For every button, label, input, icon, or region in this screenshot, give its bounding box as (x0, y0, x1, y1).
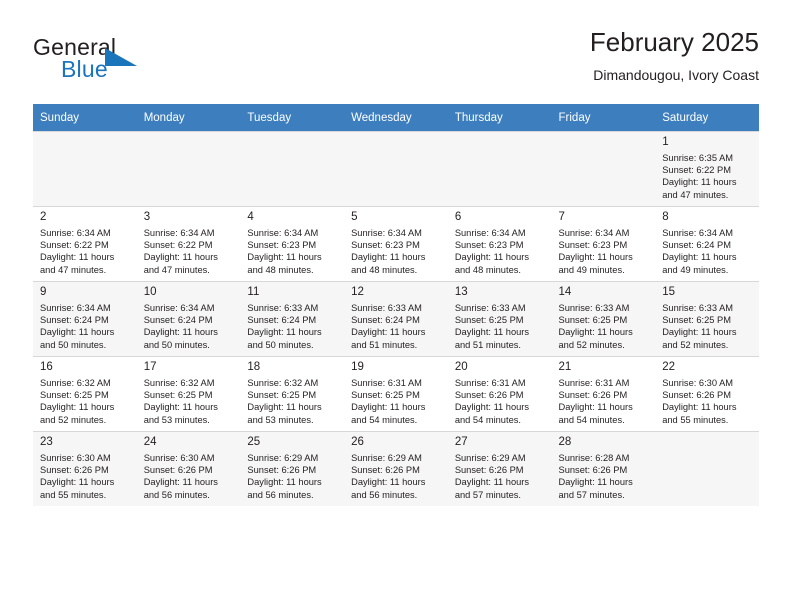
sunrise-text: Sunrise: 6:34 AM (40, 302, 132, 314)
daylight-text-line1: Daylight: 11 hours (662, 326, 754, 338)
calendar-day-cell[interactable]: 25Sunrise: 6:29 AMSunset: 6:26 PMDayligh… (240, 431, 344, 506)
logo-text-blue: Blue (61, 56, 108, 83)
calendar-day-cell[interactable]: 16Sunrise: 6:32 AMSunset: 6:25 PMDayligh… (33, 356, 137, 431)
sunrise-text: Sunrise: 6:31 AM (351, 377, 443, 389)
day-cell-empty (344, 131, 448, 206)
sunrise-text: Sunrise: 6:28 AM (559, 452, 651, 464)
daylight-text-line2: and 55 minutes. (40, 489, 132, 501)
daylight-text-line2: and 56 minutes. (351, 489, 443, 501)
calendar-day-cell[interactable]: 27Sunrise: 6:29 AMSunset: 6:26 PMDayligh… (448, 431, 552, 506)
day-cell-content: 28Sunrise: 6:28 AMSunset: 6:26 PMDayligh… (552, 431, 656, 506)
calendar-day-cell (33, 131, 137, 206)
sunrise-text: Sunrise: 6:29 AM (247, 452, 339, 464)
weekday-header-tuesday: Tuesday (240, 104, 344, 131)
sunset-text: Sunset: 6:26 PM (455, 464, 547, 476)
sunset-text: Sunset: 6:25 PM (40, 389, 132, 401)
day-number: 11 (247, 285, 339, 300)
sunrise-text: Sunrise: 6:33 AM (247, 302, 339, 314)
sunset-text: Sunset: 6:23 PM (455, 239, 547, 251)
day-cell-content: 25Sunrise: 6:29 AMSunset: 6:26 PMDayligh… (240, 431, 344, 506)
day-number: 9 (40, 285, 132, 300)
sunset-text: Sunset: 6:22 PM (144, 239, 236, 251)
day-cell-content: 7Sunrise: 6:34 AMSunset: 6:23 PMDaylight… (552, 206, 656, 281)
sunset-text: Sunset: 6:22 PM (662, 164, 754, 176)
day-number: 28 (559, 435, 651, 450)
weekday-header-thursday: Thursday (448, 104, 552, 131)
sunset-text: Sunset: 6:25 PM (247, 389, 339, 401)
day-cell-content: 14Sunrise: 6:33 AMSunset: 6:25 PMDayligh… (552, 281, 656, 356)
day-number: 13 (455, 285, 547, 300)
sunset-text: Sunset: 6:26 PM (351, 464, 443, 476)
sunset-text: Sunset: 6:24 PM (40, 314, 132, 326)
calendar-day-cell[interactable]: 20Sunrise: 6:31 AMSunset: 6:26 PMDayligh… (448, 356, 552, 431)
calendar-day-cell (240, 131, 344, 206)
calendar-day-cell[interactable]: 26Sunrise: 6:29 AMSunset: 6:26 PMDayligh… (344, 431, 448, 506)
calendar-week-row: 9Sunrise: 6:34 AMSunset: 6:24 PMDaylight… (33, 281, 759, 356)
daylight-text-line2: and 47 minutes. (40, 264, 132, 276)
day-cell-content: 20Sunrise: 6:31 AMSunset: 6:26 PMDayligh… (448, 356, 552, 431)
weekday-header-row: Sunday Monday Tuesday Wednesday Thursday… (33, 104, 759, 131)
sunset-text: Sunset: 6:26 PM (559, 464, 651, 476)
calendar-day-cell[interactable]: 1Sunrise: 6:35 AMSunset: 6:22 PMDaylight… (655, 131, 759, 206)
daylight-text-line2: and 50 minutes. (144, 339, 236, 351)
day-cell-content: 6Sunrise: 6:34 AMSunset: 6:23 PMDaylight… (448, 206, 552, 281)
calendar-week-row: 23Sunrise: 6:30 AMSunset: 6:26 PMDayligh… (33, 431, 759, 506)
daylight-text-line2: and 55 minutes. (662, 414, 754, 426)
calendar-day-cell[interactable]: 17Sunrise: 6:32 AMSunset: 6:25 PMDayligh… (137, 356, 241, 431)
day-number: 19 (351, 360, 443, 375)
sunrise-text: Sunrise: 6:30 AM (144, 452, 236, 464)
calendar-day-cell (344, 131, 448, 206)
day-number: 12 (351, 285, 443, 300)
day-cell-content: 15Sunrise: 6:33 AMSunset: 6:25 PMDayligh… (655, 281, 759, 356)
sunset-text: Sunset: 6:23 PM (559, 239, 651, 251)
sunset-text: Sunset: 6:24 PM (662, 239, 754, 251)
sunset-text: Sunset: 6:22 PM (40, 239, 132, 251)
calendar-day-cell[interactable]: 28Sunrise: 6:28 AMSunset: 6:26 PMDayligh… (552, 431, 656, 506)
sunrise-text: Sunrise: 6:34 AM (247, 227, 339, 239)
daylight-text-line2: and 52 minutes. (40, 414, 132, 426)
page-header: General Blue February 2025 Dimandougou, … (33, 26, 759, 100)
daylight-text-line2: and 49 minutes. (559, 264, 651, 276)
calendar-week-row: 2Sunrise: 6:34 AMSunset: 6:22 PMDaylight… (33, 206, 759, 281)
calendar-day-cell[interactable]: 7Sunrise: 6:34 AMSunset: 6:23 PMDaylight… (552, 206, 656, 281)
sunset-text: Sunset: 6:26 PM (144, 464, 236, 476)
daylight-text-line2: and 57 minutes. (559, 489, 651, 501)
day-cell-empty (448, 131, 552, 206)
daylight-text-line1: Daylight: 11 hours (40, 401, 132, 413)
sunrise-text: Sunrise: 6:31 AM (455, 377, 547, 389)
calendar-day-cell[interactable]: 22Sunrise: 6:30 AMSunset: 6:26 PMDayligh… (655, 356, 759, 431)
day-number: 1 (662, 135, 754, 150)
day-cell-content: 10Sunrise: 6:34 AMSunset: 6:24 PMDayligh… (137, 281, 241, 356)
day-number: 5 (351, 210, 443, 225)
calendar-day-cell[interactable]: 3Sunrise: 6:34 AMSunset: 6:22 PMDaylight… (137, 206, 241, 281)
daylight-text-line1: Daylight: 11 hours (351, 326, 443, 338)
daylight-text-line2: and 54 minutes. (559, 414, 651, 426)
daylight-text-line2: and 48 minutes. (455, 264, 547, 276)
sunrise-text: Sunrise: 6:33 AM (455, 302, 547, 314)
day-number: 10 (144, 285, 236, 300)
day-cell-empty (33, 131, 137, 206)
calendar-day-cell (448, 131, 552, 206)
daylight-text-line2: and 48 minutes. (351, 264, 443, 276)
daylight-text-line2: and 57 minutes. (455, 489, 547, 501)
sunrise-text: Sunrise: 6:30 AM (40, 452, 132, 464)
day-cell-empty (655, 431, 759, 506)
day-number: 14 (559, 285, 651, 300)
day-cell-empty (240, 131, 344, 206)
sunset-text: Sunset: 6:25 PM (559, 314, 651, 326)
day-cell-content: 8Sunrise: 6:34 AMSunset: 6:24 PMDaylight… (655, 206, 759, 281)
day-number: 2 (40, 210, 132, 225)
calendar-body: 1Sunrise: 6:35 AMSunset: 6:22 PMDaylight… (33, 131, 759, 506)
day-cell-content: 2Sunrise: 6:34 AMSunset: 6:22 PMDaylight… (33, 206, 137, 281)
day-cell-content: 21Sunrise: 6:31 AMSunset: 6:26 PMDayligh… (552, 356, 656, 431)
daylight-text-line1: Daylight: 11 hours (662, 251, 754, 263)
daylight-text-line1: Daylight: 11 hours (455, 476, 547, 488)
calendar-day-cell[interactable]: 18Sunrise: 6:32 AMSunset: 6:25 PMDayligh… (240, 356, 344, 431)
sunrise-text: Sunrise: 6:32 AM (247, 377, 339, 389)
daylight-text-line1: Daylight: 11 hours (455, 251, 547, 263)
day-cell-content: 9Sunrise: 6:34 AMSunset: 6:24 PMDaylight… (33, 281, 137, 356)
sunset-text: Sunset: 6:24 PM (351, 314, 443, 326)
title-block: February 2025 Dimandougou, Ivory Coast (590, 26, 759, 86)
daylight-text-line1: Daylight: 11 hours (455, 401, 547, 413)
daylight-text-line1: Daylight: 11 hours (351, 476, 443, 488)
calendar-day-cell[interactable]: 19Sunrise: 6:31 AMSunset: 6:25 PMDayligh… (344, 356, 448, 431)
day-cell-content: 17Sunrise: 6:32 AMSunset: 6:25 PMDayligh… (137, 356, 241, 431)
day-number: 7 (559, 210, 651, 225)
day-number: 8 (662, 210, 754, 225)
day-number: 18 (247, 360, 339, 375)
day-cell-content: 18Sunrise: 6:32 AMSunset: 6:25 PMDayligh… (240, 356, 344, 431)
calendar-week-row: 1Sunrise: 6:35 AMSunset: 6:22 PMDaylight… (33, 131, 759, 206)
day-number: 15 (662, 285, 754, 300)
day-number: 22 (662, 360, 754, 375)
calendar-day-cell[interactable]: 13Sunrise: 6:33 AMSunset: 6:25 PMDayligh… (448, 281, 552, 356)
location-subtitle: Dimandougou, Ivory Coast (590, 64, 759, 86)
day-cell-empty (552, 131, 656, 206)
weekday-header-monday: Monday (137, 104, 241, 131)
calendar-day-cell[interactable]: 21Sunrise: 6:31 AMSunset: 6:26 PMDayligh… (552, 356, 656, 431)
daylight-text-line2: and 53 minutes. (144, 414, 236, 426)
day-cell-content: 16Sunrise: 6:32 AMSunset: 6:25 PMDayligh… (33, 356, 137, 431)
daylight-text-line1: Daylight: 11 hours (247, 476, 339, 488)
calendar-day-cell[interactable]: 10Sunrise: 6:34 AMSunset: 6:24 PMDayligh… (137, 281, 241, 356)
day-cell-content: 11Sunrise: 6:33 AMSunset: 6:24 PMDayligh… (240, 281, 344, 356)
calendar-day-cell[interactable]: 5Sunrise: 6:34 AMSunset: 6:23 PMDaylight… (344, 206, 448, 281)
day-cell-content: 19Sunrise: 6:31 AMSunset: 6:25 PMDayligh… (344, 356, 448, 431)
daylight-text-line1: Daylight: 11 hours (559, 326, 651, 338)
sunrise-text: Sunrise: 6:34 AM (351, 227, 443, 239)
sunrise-text: Sunrise: 6:30 AM (662, 377, 754, 389)
weekday-header-friday: Friday (552, 104, 656, 131)
day-cell-content: 1Sunrise: 6:35 AMSunset: 6:22 PMDaylight… (655, 131, 759, 206)
daylight-text-line2: and 52 minutes. (662, 339, 754, 351)
sunset-text: Sunset: 6:24 PM (144, 314, 236, 326)
day-cell-content: 12Sunrise: 6:33 AMSunset: 6:24 PMDayligh… (344, 281, 448, 356)
daylight-text-line2: and 56 minutes. (144, 489, 236, 501)
day-number: 23 (40, 435, 132, 450)
daylight-text-line2: and 52 minutes. (559, 339, 651, 351)
daylight-text-line1: Daylight: 11 hours (662, 401, 754, 413)
daylight-text-line1: Daylight: 11 hours (40, 326, 132, 338)
daylight-text-line1: Daylight: 11 hours (247, 326, 339, 338)
daylight-text-line2: and 53 minutes. (247, 414, 339, 426)
sunrise-text: Sunrise: 6:34 AM (662, 227, 754, 239)
daylight-text-line2: and 50 minutes. (40, 339, 132, 351)
daylight-text-line2: and 51 minutes. (455, 339, 547, 351)
day-cell-content: 5Sunrise: 6:34 AMSunset: 6:23 PMDaylight… (344, 206, 448, 281)
day-number: 25 (247, 435, 339, 450)
day-cell-content: 4Sunrise: 6:34 AMSunset: 6:23 PMDaylight… (240, 206, 344, 281)
sunrise-text: Sunrise: 6:31 AM (559, 377, 651, 389)
sunset-text: Sunset: 6:25 PM (455, 314, 547, 326)
day-number: 17 (144, 360, 236, 375)
daylight-text-line2: and 56 minutes. (247, 489, 339, 501)
daylight-text-line2: and 51 minutes. (351, 339, 443, 351)
calendar-day-cell[interactable]: 11Sunrise: 6:33 AMSunset: 6:24 PMDayligh… (240, 281, 344, 356)
calendar-day-cell (137, 131, 241, 206)
logo-triangle-icon (105, 48, 137, 66)
day-number: 24 (144, 435, 236, 450)
calendar-day-cell[interactable]: 15Sunrise: 6:33 AMSunset: 6:25 PMDayligh… (655, 281, 759, 356)
sunrise-text: Sunrise: 6:29 AM (455, 452, 547, 464)
daylight-text-line2: and 47 minutes. (144, 264, 236, 276)
daylight-text-line1: Daylight: 11 hours (144, 326, 236, 338)
day-number: 20 (455, 360, 547, 375)
weekday-header-sunday: Sunday (33, 104, 137, 131)
calendar-day-cell[interactable]: 6Sunrise: 6:34 AMSunset: 6:23 PMDaylight… (448, 206, 552, 281)
daylight-text-line1: Daylight: 11 hours (144, 476, 236, 488)
daylight-text-line1: Daylight: 11 hours (662, 176, 754, 188)
daylight-text-line2: and 50 minutes. (247, 339, 339, 351)
calendar-day-cell (655, 431, 759, 506)
sunset-text: Sunset: 6:26 PM (247, 464, 339, 476)
sunrise-text: Sunrise: 6:34 AM (40, 227, 132, 239)
sunset-text: Sunset: 6:26 PM (40, 464, 132, 476)
day-cell-content: 3Sunrise: 6:34 AMSunset: 6:22 PMDaylight… (137, 206, 241, 281)
daylight-text-line1: Daylight: 11 hours (144, 401, 236, 413)
daylight-text-line2: and 54 minutes. (455, 414, 547, 426)
day-cell-content: 26Sunrise: 6:29 AMSunset: 6:26 PMDayligh… (344, 431, 448, 506)
daylight-text-line1: Daylight: 11 hours (559, 251, 651, 263)
sunset-text: Sunset: 6:23 PM (247, 239, 339, 251)
daylight-text-line1: Daylight: 11 hours (559, 401, 651, 413)
day-cell-content: 22Sunrise: 6:30 AMSunset: 6:26 PMDayligh… (655, 356, 759, 431)
sunrise-text: Sunrise: 6:34 AM (455, 227, 547, 239)
daylight-text-line1: Daylight: 11 hours (144, 251, 236, 263)
calendar-day-cell[interactable]: 23Sunrise: 6:30 AMSunset: 6:26 PMDayligh… (33, 431, 137, 506)
daylight-text-line1: Daylight: 11 hours (351, 251, 443, 263)
daylight-text-line2: and 47 minutes. (662, 189, 754, 201)
sunrise-text: Sunrise: 6:34 AM (559, 227, 651, 239)
page-title: February 2025 (590, 26, 759, 58)
daylight-text-line1: Daylight: 11 hours (351, 401, 443, 413)
sunset-text: Sunset: 6:23 PM (351, 239, 443, 251)
calendar-week-row: 16Sunrise: 6:32 AMSunset: 6:25 PMDayligh… (33, 356, 759, 431)
daylight-text-line1: Daylight: 11 hours (40, 476, 132, 488)
day-number: 26 (351, 435, 443, 450)
calendar-page: General Blue February 2025 Dimandougou, … (0, 0, 792, 612)
day-cell-content: 27Sunrise: 6:29 AMSunset: 6:26 PMDayligh… (448, 431, 552, 506)
daylight-text-line1: Daylight: 11 hours (559, 476, 651, 488)
daylight-text-line1: Daylight: 11 hours (455, 326, 547, 338)
day-cell-empty (137, 131, 241, 206)
calendar-day-cell[interactable]: 2Sunrise: 6:34 AMSunset: 6:22 PMDaylight… (33, 206, 137, 281)
sunrise-text: Sunrise: 6:32 AM (144, 377, 236, 389)
sunrise-sunset-calendar: Sunday Monday Tuesday Wednesday Thursday… (33, 104, 759, 506)
sunset-text: Sunset: 6:26 PM (455, 389, 547, 401)
sunrise-text: Sunrise: 6:32 AM (40, 377, 132, 389)
day-number: 27 (455, 435, 547, 450)
sunset-text: Sunset: 6:25 PM (144, 389, 236, 401)
daylight-text-line1: Daylight: 11 hours (247, 401, 339, 413)
sunrise-text: Sunrise: 6:33 AM (559, 302, 651, 314)
calendar-day-cell[interactable]: 8Sunrise: 6:34 AMSunset: 6:24 PMDaylight… (655, 206, 759, 281)
sunrise-text: Sunrise: 6:33 AM (662, 302, 754, 314)
sunset-text: Sunset: 6:25 PM (662, 314, 754, 326)
sunrise-text: Sunrise: 6:29 AM (351, 452, 443, 464)
day-cell-content: 24Sunrise: 6:30 AMSunset: 6:26 PMDayligh… (137, 431, 241, 506)
calendar-day-cell (552, 131, 656, 206)
day-number: 21 (559, 360, 651, 375)
sunset-text: Sunset: 6:26 PM (559, 389, 651, 401)
daylight-text-line2: and 54 minutes. (351, 414, 443, 426)
calendar-day-cell[interactable]: 24Sunrise: 6:30 AMSunset: 6:26 PMDayligh… (137, 431, 241, 506)
sunrise-text: Sunrise: 6:35 AM (662, 152, 754, 164)
day-cell-content: 23Sunrise: 6:30 AMSunset: 6:26 PMDayligh… (33, 431, 137, 506)
daylight-text-line1: Daylight: 11 hours (247, 251, 339, 263)
day-number: 3 (144, 210, 236, 225)
sunrise-text: Sunrise: 6:34 AM (144, 227, 236, 239)
weekday-header-wednesday: Wednesday (344, 104, 448, 131)
sunset-text: Sunset: 6:24 PM (247, 314, 339, 326)
daylight-text-line2: and 48 minutes. (247, 264, 339, 276)
calendar-day-cell[interactable]: 4Sunrise: 6:34 AMSunset: 6:23 PMDaylight… (240, 206, 344, 281)
sunrise-text: Sunrise: 6:33 AM (351, 302, 443, 314)
daylight-text-line1: Daylight: 11 hours (40, 251, 132, 263)
sunrise-text: Sunrise: 6:34 AM (144, 302, 236, 314)
sunset-text: Sunset: 6:25 PM (351, 389, 443, 401)
day-number: 6 (455, 210, 547, 225)
day-cell-content: 13Sunrise: 6:33 AMSunset: 6:25 PMDayligh… (448, 281, 552, 356)
day-number: 16 (40, 360, 132, 375)
calendar-day-cell[interactable]: 12Sunrise: 6:33 AMSunset: 6:24 PMDayligh… (344, 281, 448, 356)
general-blue-logo[interactable]: General Blue (33, 34, 153, 90)
calendar-day-cell[interactable]: 9Sunrise: 6:34 AMSunset: 6:24 PMDaylight… (33, 281, 137, 356)
day-number: 4 (247, 210, 339, 225)
calendar-day-cell[interactable]: 14Sunrise: 6:33 AMSunset: 6:25 PMDayligh… (552, 281, 656, 356)
sunset-text: Sunset: 6:26 PM (662, 389, 754, 401)
weekday-header-saturday: Saturday (655, 104, 759, 131)
daylight-text-line2: and 49 minutes. (662, 264, 754, 276)
